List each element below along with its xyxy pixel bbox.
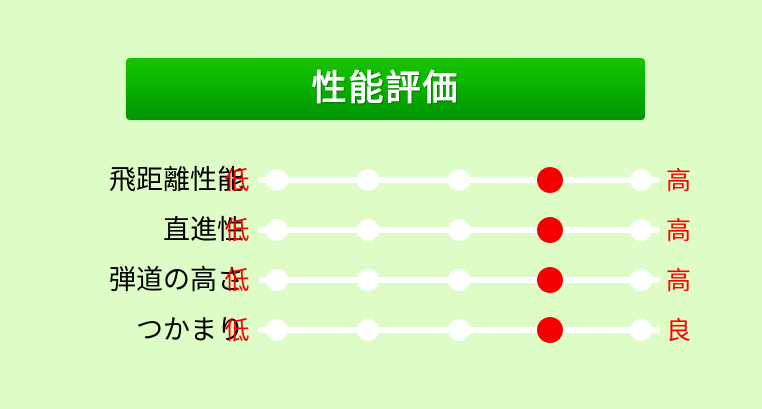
rating-low-label: 低 (220, 218, 254, 243)
rating-high-label: 高 (666, 218, 706, 243)
rating-row-label: 飛距離性能 (14, 167, 244, 194)
rating-row-label: 直進性 (14, 217, 244, 244)
rating-dot[interactable] (266, 219, 288, 241)
rating-row-label: 弾道の高さ (14, 267, 244, 294)
rating-row: 飛距離性能低高 (0, 155, 762, 205)
rating-dot[interactable] (357, 269, 379, 291)
rating-low-label: 低 (220, 318, 254, 343)
rating-dot[interactable] (448, 319, 470, 341)
rating-dot-selected[interactable] (537, 317, 563, 343)
rating-row: 弾道の高さ低高 (0, 255, 762, 305)
rating-dot[interactable] (357, 219, 379, 241)
rating-high-label: 高 (666, 168, 706, 193)
rating-dot-selected[interactable] (537, 167, 563, 193)
rating-dot[interactable] (630, 269, 652, 291)
rating-scale[interactable] (258, 255, 660, 305)
rating-dot[interactable] (630, 169, 652, 191)
rating-scale[interactable] (258, 155, 660, 205)
rating-row: 直進性低高 (0, 205, 762, 255)
rating-scale[interactable] (258, 305, 660, 355)
rating-row-label: つかまり (14, 317, 244, 344)
rating-dot[interactable] (630, 219, 652, 241)
rating-rows-list: 飛距離性能低高直進性低高弾道の高さ低高つかまり低良 (0, 155, 762, 355)
rating-scale[interactable] (258, 205, 660, 255)
rating-dot[interactable] (448, 219, 470, 241)
rating-dot[interactable] (630, 319, 652, 341)
rating-dot[interactable] (266, 169, 288, 191)
rating-row: つかまり低良 (0, 305, 762, 355)
rating-low-label: 低 (220, 268, 254, 293)
rating-low-label: 低 (220, 168, 254, 193)
rating-dot-selected[interactable] (537, 267, 563, 293)
page-title: 性能評価 (311, 72, 459, 107)
rating-dot[interactable] (357, 169, 379, 191)
rating-dot[interactable] (448, 269, 470, 291)
rating-dot[interactable] (448, 169, 470, 191)
performance-rating-page: 性能評価 飛距離性能低高直進性低高弾道の高さ低高つかまり低良 (0, 0, 762, 409)
rating-dot[interactable] (266, 269, 288, 291)
rating-dot[interactable] (266, 319, 288, 341)
rating-high-label: 良 (666, 318, 706, 343)
header-banner: 性能評価 (126, 58, 645, 120)
rating-high-label: 高 (666, 268, 706, 293)
rating-dot-selected[interactable] (537, 217, 563, 243)
rating-dot[interactable] (357, 319, 379, 341)
